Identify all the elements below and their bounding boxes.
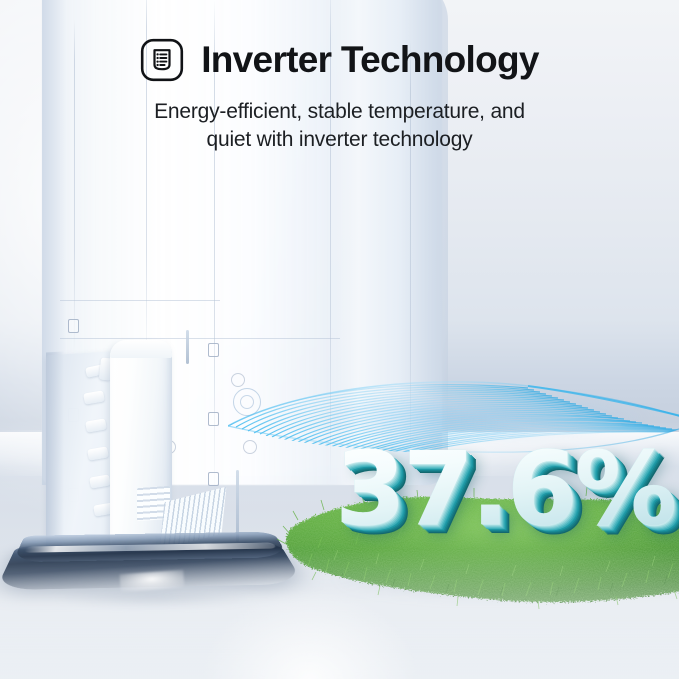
compressor-plate-shading <box>46 351 64 548</box>
ac-latch <box>208 472 219 486</box>
ac-panel-line <box>60 300 220 301</box>
page-title: Inverter Technology <box>201 41 539 80</box>
ac-latch <box>208 343 219 357</box>
ac-screw-mark <box>231 373 245 387</box>
subtitle-line-1: Energy-efficient, stable temperature, an… <box>0 98 679 126</box>
air-outlet-ring-icon <box>233 388 261 416</box>
ac-screw-mark <box>243 440 257 454</box>
ac-latch <box>208 412 219 426</box>
document-list-icon <box>140 38 184 82</box>
product-feature-banner: 37.6% 37.6% <box>0 0 679 679</box>
compressor-module-top <box>110 340 172 358</box>
stat-value-extrusion: 37.6% <box>335 439 674 541</box>
ac-latch <box>68 319 79 333</box>
feature-subtitle: Energy-efficient, stable temperature, an… <box>0 98 679 153</box>
feature-header: Inverter Technology Energy-efficient, st… <box>0 0 679 153</box>
subtitle-line-2: quiet with inverter technology <box>0 126 679 154</box>
ac-support-post <box>186 330 189 364</box>
ac-panel-line <box>60 338 340 339</box>
title-row: Inverter Technology <box>0 38 679 82</box>
floor-bottom-reflection <box>180 559 440 679</box>
